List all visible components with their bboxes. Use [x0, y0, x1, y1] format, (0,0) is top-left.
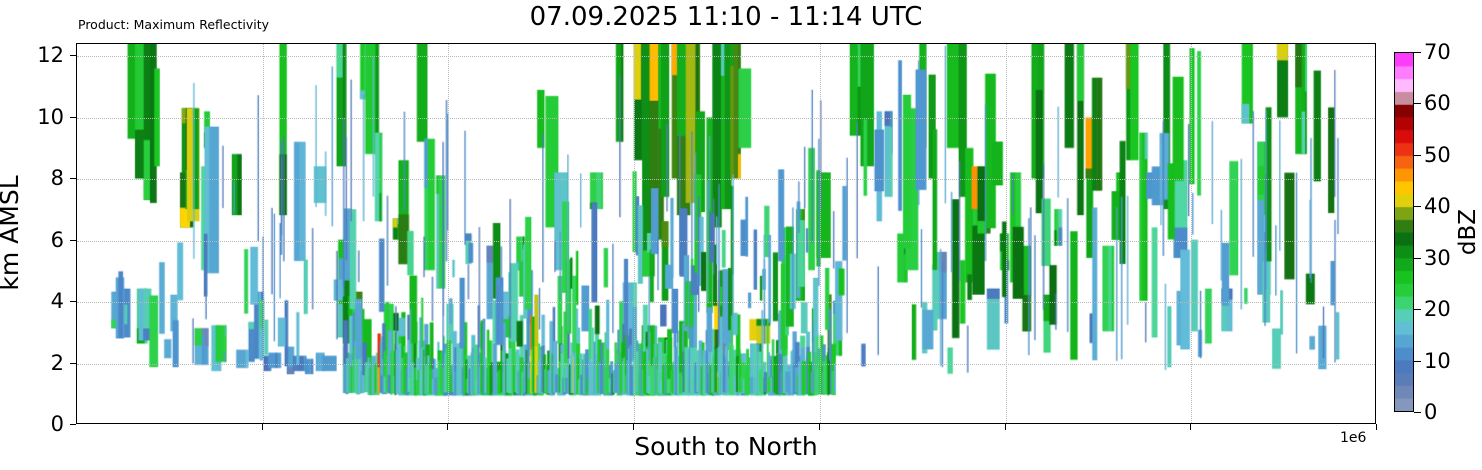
x-tick-mark	[1376, 424, 1377, 430]
y-tick-mark	[70, 424, 76, 425]
colorbar-label: dBZ	[1455, 209, 1481, 255]
colorbar-tick-mark	[1414, 206, 1421, 207]
colorbar-tick-label: 50	[1424, 143, 1451, 167]
x-tick-mark	[447, 424, 448, 430]
x-tick-mark	[633, 424, 634, 430]
colorbar-tick-mark	[1414, 103, 1421, 104]
x-tick-mark	[819, 424, 820, 430]
reflectivity-heatmap	[77, 44, 1375, 423]
colorbar-tick-label: 40	[1424, 194, 1451, 218]
y-tick-mark	[70, 363, 76, 364]
colorbar-tick-mark	[1414, 258, 1421, 259]
y-tick-mark	[70, 55, 76, 56]
colorbar-tick-mark	[1414, 361, 1421, 362]
colorbar-tick-label: 0	[1424, 400, 1437, 424]
y-tick-mark	[70, 240, 76, 241]
colorbar-tick-label: 20	[1424, 297, 1451, 321]
y-tick-label: 0	[51, 412, 64, 436]
plot-area	[76, 43, 1376, 424]
colorbar-tick-mark	[1414, 52, 1421, 53]
radar-cross-section-figure: 07.09.2025 11:10 - 11:14 UTC Product: Ma…	[0, 0, 1482, 470]
colorbar-tick-label: 10	[1424, 349, 1451, 373]
y-tick-mark	[70, 301, 76, 302]
x-axis-exponent: 1e6	[1340, 430, 1366, 446]
x-tick-mark	[1005, 424, 1006, 430]
x-tick-mark	[1190, 424, 1191, 430]
y-tick-label: 12	[37, 43, 64, 67]
colorbar-tick-mark	[1414, 155, 1421, 156]
y-tick-label: 6	[51, 228, 64, 252]
page-title: 07.09.2025 11:10 - 11:14 UTC	[76, 2, 1376, 32]
colorbar-tick-mark	[1414, 309, 1421, 310]
y-tick-mark	[70, 178, 76, 179]
y-tick-mark	[70, 117, 76, 118]
y-tick-label: 4	[51, 289, 64, 313]
x-tick-mark	[262, 424, 263, 430]
y-tick-label: 8	[51, 166, 64, 190]
x-axis-label: South to North	[76, 432, 1376, 461]
colorbar-tick-label: 70	[1424, 40, 1451, 64]
y-tick-label: 2	[51, 351, 64, 375]
colorbar-tick-label: 30	[1424, 246, 1451, 270]
product-label: Product: Maximum Reflectivity	[78, 17, 269, 32]
y-axis-label: km AMSL	[0, 175, 24, 290]
colorbar-tick-mark	[1414, 412, 1421, 413]
colorbar-tick-label: 60	[1424, 91, 1451, 115]
colorbar: 010203040506070	[1394, 52, 1414, 412]
colorbar-gradient	[1394, 52, 1414, 412]
y-tick-label: 10	[37, 105, 64, 129]
